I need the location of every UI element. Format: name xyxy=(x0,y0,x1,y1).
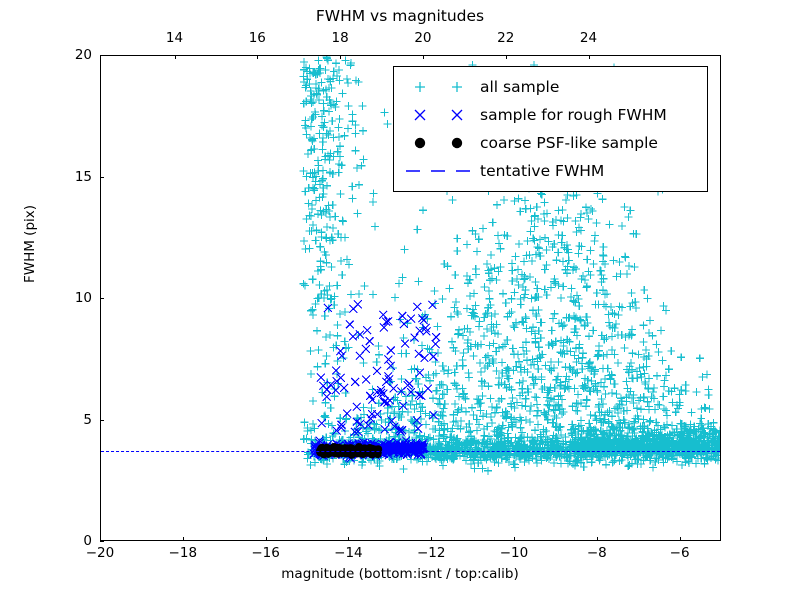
x-axis-tick-bottom xyxy=(514,537,515,541)
x-axis-tick-bottom xyxy=(348,537,349,541)
legend-item: all sample xyxy=(400,73,698,101)
x-axis-tick-top xyxy=(340,55,341,59)
x-axis-tick-bottom xyxy=(431,537,432,541)
legend-label: tentative FWHM xyxy=(478,162,604,180)
legend-label: sample for rough FWHM xyxy=(478,106,667,124)
x-axis-tick-bottom xyxy=(680,537,681,541)
legend-marker xyxy=(400,130,478,156)
x-axis-ticklabel-top: 18 xyxy=(332,30,349,46)
x-axis-tick-top xyxy=(506,55,507,59)
x-axis-ticklabel-top: 14 xyxy=(166,30,183,46)
legend-label: coarse PSF-like sample xyxy=(478,134,658,152)
legend-item: sample for rough FWHM xyxy=(400,101,698,129)
y-axis-ticklabel-left: 5 xyxy=(58,412,92,428)
legend-marker xyxy=(400,102,478,128)
figure-canvas: FWHM vs magnitudes −20−18−16−14−12−10−8−… xyxy=(0,0,800,600)
legend-label: all sample xyxy=(478,78,559,96)
y-axis-ticklabel-left: 20 xyxy=(58,47,92,63)
x-axis-ticklabel-bottom: −6 xyxy=(670,545,690,561)
x-axis-ticklabel-top: 16 xyxy=(249,30,266,46)
legend-item: coarse PSF-like sample xyxy=(400,129,698,157)
y-axis-tick-left xyxy=(100,298,104,299)
chart-title: FWHM vs magnitudes xyxy=(0,7,800,25)
cross-marker xyxy=(400,102,478,128)
x-axis-ticklabel-top: 22 xyxy=(497,30,514,46)
x-axis-tick-top xyxy=(175,55,176,59)
x-axis-tick-top xyxy=(257,55,258,59)
y-axis-ticklabel-left: 10 xyxy=(58,290,92,306)
dashed-line-marker xyxy=(400,158,478,184)
plus-marker xyxy=(400,74,478,100)
x-axis-ticklabel-top: 24 xyxy=(580,30,597,46)
x-axis-tick-bottom xyxy=(183,537,184,541)
x-axis-tick-top xyxy=(589,55,590,59)
y-axis-ticklabel-left: 0 xyxy=(58,533,92,549)
y-axis-ticklabel-left: 15 xyxy=(58,169,92,185)
x-axis-tick-bottom xyxy=(266,537,267,541)
x-axis-tick-top xyxy=(423,55,424,59)
x-axis-ticklabel-bottom: −18 xyxy=(169,545,198,561)
x-axis-ticklabel-bottom: −10 xyxy=(500,545,529,561)
legend-marker xyxy=(400,74,478,100)
x-axis-ticklabel-bottom: −8 xyxy=(587,545,607,561)
x-axis-ticklabel-bottom: −16 xyxy=(251,545,280,561)
y-axis-tick-left xyxy=(100,55,104,56)
circle-marker xyxy=(400,130,478,156)
x-axis-ticklabel-bottom: −14 xyxy=(334,545,363,561)
tentative-fwhm-line xyxy=(101,451,720,452)
legend-marker xyxy=(400,158,478,184)
chart-legend: all samplesample for rough FWHMcoarse PS… xyxy=(393,66,708,192)
x-axis-ticklabel-top: 20 xyxy=(414,30,431,46)
x-axis-label: magnitude (bottom:isnt / top:calib) xyxy=(0,566,800,582)
x-axis-ticklabel-bottom: −12 xyxy=(417,545,446,561)
x-axis-tick-bottom xyxy=(597,537,598,541)
y-axis-tick-left xyxy=(100,420,104,421)
legend-item: tentative FWHM xyxy=(400,157,698,185)
y-axis-tick-left xyxy=(100,541,104,542)
y-axis-label: FWHM (pix) xyxy=(22,34,38,454)
y-axis-tick-left xyxy=(100,177,104,178)
